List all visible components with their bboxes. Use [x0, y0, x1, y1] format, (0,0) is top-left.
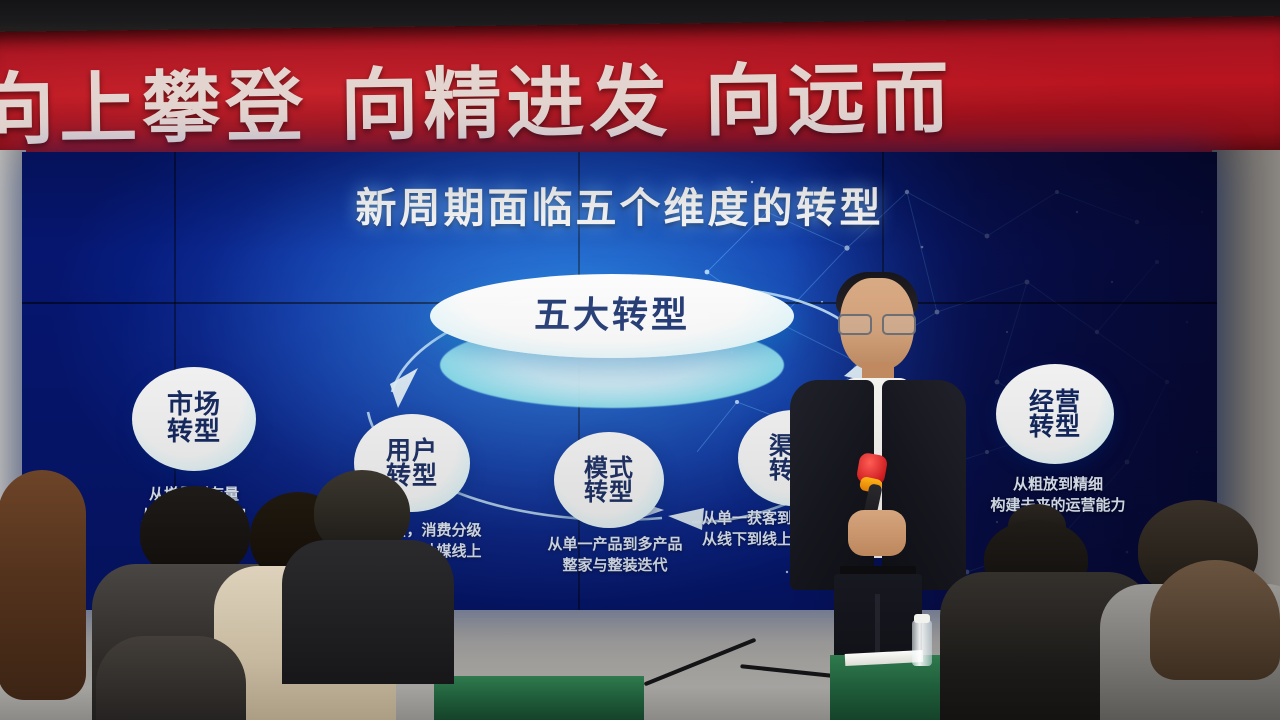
water-bottle-1	[912, 620, 932, 666]
audience-8-head	[1150, 560, 1280, 680]
audience-person-5	[96, 636, 246, 720]
speaker-hands	[848, 510, 906, 556]
banner-slogan-text: 向上攀登 向精进发 向远而	[0, 56, 1280, 150]
red-banner: 向上攀登 向精进发 向远而	[0, 16, 1280, 172]
audience-person-4	[282, 470, 452, 680]
water-bottle-1-cap	[914, 614, 930, 623]
glasses-icon	[838, 314, 916, 331]
audience-person-1	[0, 470, 104, 720]
photo-scene: 向上攀登 向精进发 向远而	[0, 0, 1280, 720]
audience-5-head	[96, 636, 246, 720]
audience-person-8	[1150, 560, 1280, 720]
table-front-left	[434, 676, 644, 720]
audience-1-hair	[0, 470, 86, 700]
audience-4-jacket	[282, 540, 454, 684]
